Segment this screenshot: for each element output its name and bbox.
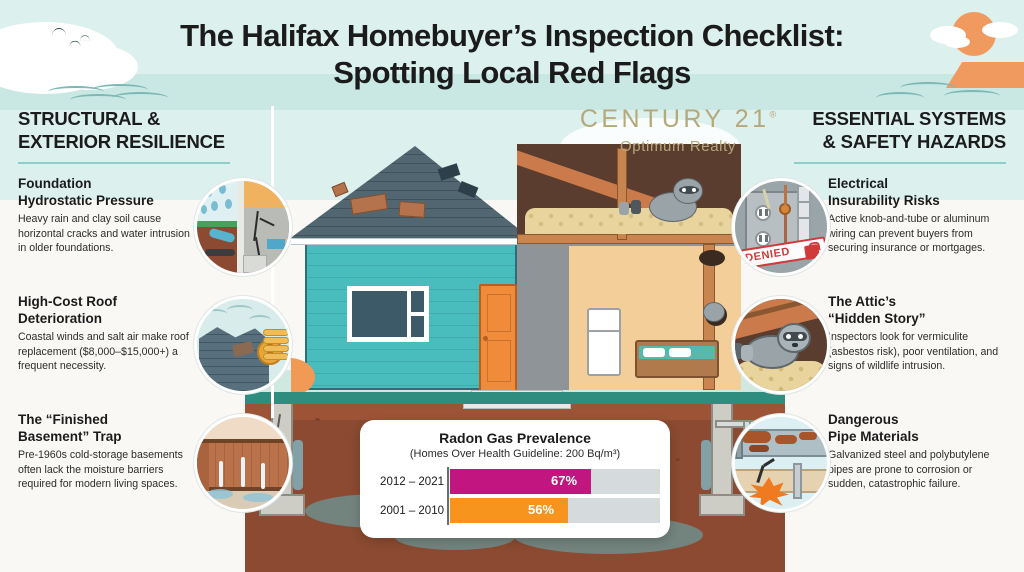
right-heading-rule	[794, 162, 1006, 164]
right-column: ESSENTIAL SYSTEMS & SAFETY HAZARDS	[738, 108, 1006, 530]
right-item-1-title: Electrical Insurability Risks	[828, 176, 1006, 209]
wave-right-3	[876, 92, 924, 104]
chart-row-0: 2012 – 2021 67%	[372, 469, 670, 494]
left-item-2-title-line-2: Deterioration	[18, 311, 196, 327]
left-item-basement[interactable]: The “Finished Basement” Trap Pre-1960s c…	[18, 412, 286, 516]
left-item-2-title: High-Cost Roof Deterioration	[18, 294, 196, 327]
chart-track-0: 67%	[450, 469, 660, 494]
corroded-burst-pipe-icon	[732, 414, 830, 512]
missing-shingle-1	[438, 163, 461, 181]
chart-plot-area: 2012 – 2021 67% 2001 – 2010 56%	[360, 469, 670, 523]
raccoon-tail-stripe-1	[631, 200, 641, 214]
chart-subtitle: (Homes Over Health Guideline: 200 Bq/m³)	[360, 448, 670, 460]
right-section-heading: ESSENTIAL SYSTEMS & SAFETY HAZARDS	[738, 108, 1006, 153]
raccoon-eye-right	[692, 188, 696, 192]
left-heading-rule	[18, 162, 230, 164]
right-item-3-title-line-2: Pipe Materials	[828, 429, 1006, 445]
chart-track-1: 56%	[450, 498, 660, 523]
page-title: The Halifax Homebuyer’s Inspection Check…	[0, 18, 1024, 91]
door-panel-top	[487, 294, 511, 332]
chart-value-label-1: 56%	[528, 502, 554, 517]
left-item-1-title: Foundation Hydrostatic Pressure	[18, 176, 196, 209]
right-item-3-title-line-1: Dangerous	[828, 412, 1006, 428]
right-item-3-title: Dangerous Pipe Materials	[828, 412, 1006, 445]
right-item-3-text: Dangerous Pipe Materials Galvanized stee…	[828, 412, 1006, 492]
wave-left-4	[112, 92, 168, 104]
door-panel-bottom	[487, 340, 511, 382]
roof-eave	[291, 238, 517, 245]
raccoon-peeking-icon	[703, 302, 725, 322]
left-item-1-body: Heavy rain and clay soil cause horizonta…	[18, 212, 196, 256]
right-item-1-body: Active knob-and-tube or aluminum wiring …	[828, 212, 1006, 256]
soil-speck-3	[675, 458, 680, 461]
right-item-3-body: Galvanized steel and polybutylene pipes …	[828, 448, 1006, 492]
right-item-1-title-line-2: Insurability Risks	[828, 193, 1006, 209]
fridge-divider	[587, 330, 621, 332]
left-heading-line-1: STRUCTURAL &	[18, 108, 286, 131]
right-item-2-body: Inspectors look for vermiculite (asbesto…	[828, 330, 1006, 374]
right-item-2-title-line-2: “Hidden Story”	[828, 311, 1006, 327]
chart-value-label-0: 67%	[551, 473, 577, 488]
left-item-3-title-line-2: Basement” Trap	[18, 429, 196, 445]
chart-axis-line	[447, 467, 449, 525]
right-item-1-title-line-1: Electrical	[828, 176, 1006, 192]
house-cutaway-interior	[517, 122, 741, 394]
exposed-decking-3	[331, 182, 348, 197]
right-item-2-text: The Attic’s “Hidden Story” Inspectors lo…	[828, 294, 1006, 374]
left-item-foundation[interactable]: Foundation Hydrostatic Pressure Heavy ra…	[18, 176, 286, 280]
roof-shingle-texture	[291, 146, 517, 246]
left-item-roof[interactable]: High-Cost Roof Deterioration Coastal win…	[18, 294, 286, 398]
left-heading-line-2: EXTERIOR RESILIENCE	[18, 131, 286, 154]
right-heading-line-1: ESSENTIAL SYSTEMS	[738, 108, 1006, 131]
right-item-electrical[interactable]: DENIED Electrical Insurability Risks Act…	[738, 176, 1006, 280]
title-line-2: Spotting Local Red Flags	[0, 55, 1024, 92]
chart-category-label-1: 2001 – 2010	[372, 505, 444, 517]
door-knob	[483, 336, 488, 341]
pillow-right	[669, 348, 691, 357]
right-item-pipes[interactable]: Dangerous Pipe Materials Galvanized stee…	[738, 412, 1006, 516]
house-exterior	[291, 122, 517, 394]
radon-chart-card: Radon Gas Prevalence (Homes Over Health …	[360, 420, 670, 538]
soil-speck-1	[315, 418, 320, 421]
basement-moisture-icon	[194, 414, 292, 512]
left-item-3-text: The “Finished Basement” Trap Pre-1960s c…	[18, 412, 196, 492]
foundation-crack-rain-icon	[194, 178, 292, 276]
right-heading-line-2: & SAFETY HAZARDS	[738, 131, 1006, 154]
right-item-2-title-line-1: The Attic’s	[828, 294, 1006, 310]
exposed-decking-2	[399, 201, 426, 218]
right-item-2-title: The Attic’s “Hidden Story”	[828, 294, 1006, 327]
left-item-2-title-line-1: High-Cost Roof	[18, 294, 196, 310]
left-item-1-title-line-1: Foundation	[18, 176, 196, 192]
left-item-3-title-line-1: The “Finished	[18, 412, 196, 428]
window-mullion-h	[407, 312, 429, 316]
pillow-left	[643, 348, 665, 357]
left-item-1-text: Foundation Hydrostatic Pressure Heavy ra…	[18, 176, 196, 256]
damaged-roof-coins-icon	[194, 296, 292, 394]
left-item-1-title-line-2: Hydrostatic Pressure	[18, 193, 196, 209]
right-item-1-text: Electrical Insurability Risks Active kno…	[828, 176, 1006, 256]
wall-hole-upper	[699, 250, 725, 266]
attic-insulation-vermiculite	[525, 208, 733, 234]
chart-title: Radon Gas Prevalence	[360, 430, 670, 446]
knob-and-tube-wiring-icon: DENIED	[732, 178, 830, 276]
attic-raccoon-insulation-icon	[732, 296, 830, 394]
floor-slab	[255, 392, 775, 404]
left-item-3-body: Pre-1960s cold-storage basements often l…	[18, 448, 196, 492]
wave-right-2	[944, 90, 1000, 102]
right-item-attic[interactable]: The Attic’s “Hidden Story” Inspectors lo…	[738, 294, 1006, 398]
water-seepage-right	[701, 440, 711, 490]
raccoon-tail-stripe-2	[619, 202, 629, 215]
chart-row-1: 2001 – 2010 56%	[372, 498, 670, 523]
left-item-2-text: High-Cost Roof Deterioration Coastal win…	[18, 294, 196, 374]
house-body	[291, 122, 741, 394]
infographic-canvas: The Halifax Homebuyer’s Inspection Check…	[0, 0, 1024, 572]
left-item-3-title: The “Finished Basement” Trap	[18, 412, 196, 445]
left-item-2-body: Coastal winds and salt air make roof rep…	[18, 330, 196, 374]
raccoon-eye-left	[682, 188, 686, 192]
water-seepage-left	[293, 440, 303, 490]
left-column: STRUCTURAL & EXTERIOR RESILIENCE	[18, 108, 286, 530]
attic-beam-horizontal	[517, 234, 741, 244]
title-line-1: The Halifax Homebuyer’s Inspection Check…	[0, 18, 1024, 55]
refrigerator-icon	[587, 308, 621, 376]
left-section-heading: STRUCTURAL & EXTERIOR RESILIENCE	[18, 108, 286, 153]
chart-category-label-0: 2012 – 2021	[372, 476, 444, 488]
